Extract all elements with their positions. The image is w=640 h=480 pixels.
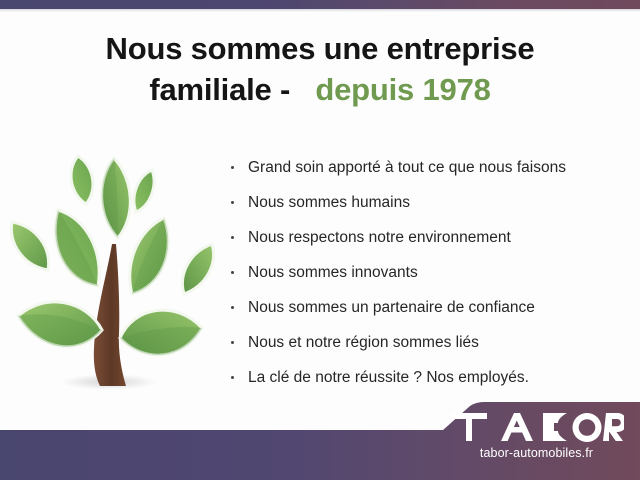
bullet-dot-icon	[231, 236, 234, 239]
list-item: Nous sommes humains	[228, 185, 628, 220]
list-item: Nous sommes un partenaire de confiance	[228, 290, 628, 325]
tree-leaf-small-upper-right	[134, 170, 154, 212]
bullet-dot-icon	[231, 376, 234, 379]
list-item-label: Nous et notre région sommes liés	[248, 334, 479, 351]
tree-leaf-small-upper-left	[71, 156, 93, 204]
headline-line-2: familiale - depuis 1978	[30, 69, 610, 110]
page-title: Nous sommes une entreprise familiale - d…	[30, 28, 610, 110]
tree-illustration	[6, 134, 228, 396]
list-item: Nous respectons notre environnement	[228, 220, 628, 255]
top-accent-bar	[0, 0, 640, 9]
bullet-dot-icon	[231, 201, 234, 204]
slide-canvas: Nous sommes une entreprise familiale - d…	[0, 0, 640, 480]
list-item-label: Nous sommes humains	[248, 194, 410, 211]
headline-accent-year: depuis 1978	[315, 72, 490, 107]
bullet-dot-icon	[231, 166, 234, 169]
headline-line-2-prefix: familiale -	[149, 72, 290, 107]
value-proposition-list: Grand soin apporté à tout ce que nous fa…	[228, 150, 628, 395]
bullet-dot-icon	[231, 271, 234, 274]
bullet-dot-icon	[231, 306, 234, 309]
tree-leaf-far-right	[182, 244, 213, 294]
brand-logo: tabor-automobiles.fr	[449, 410, 624, 460]
headline-line-1: Nous sommes une entreprise	[106, 31, 535, 66]
list-item-label: Nous sommes innovants	[248, 264, 418, 281]
list-item-label: Nous respectons notre environnement	[248, 229, 511, 246]
list-item-label: Nous sommes un partenaire de confiance	[248, 299, 535, 316]
tabor-wordmark	[449, 410, 624, 444]
top-accent-bar-shadow	[0, 9, 640, 12]
bullet-dot-icon	[231, 341, 234, 344]
list-item: Nous et notre région sommes liés	[228, 325, 628, 360]
list-item-label: La clé de notre réussite ? Nos employés.	[248, 369, 529, 386]
list-item: La clé de notre réussite ? Nos employés.	[228, 360, 628, 395]
list-item-label: Grand soin apporté à tout ce que nous fa…	[248, 159, 566, 176]
list-item: Nous sommes innovants	[228, 255, 628, 290]
tree-leaf-far-left	[11, 222, 48, 270]
brand-url-label: tabor-automobiles.fr	[449, 446, 624, 460]
list-item: Grand soin apporté à tout ce que nous fa…	[228, 150, 628, 185]
